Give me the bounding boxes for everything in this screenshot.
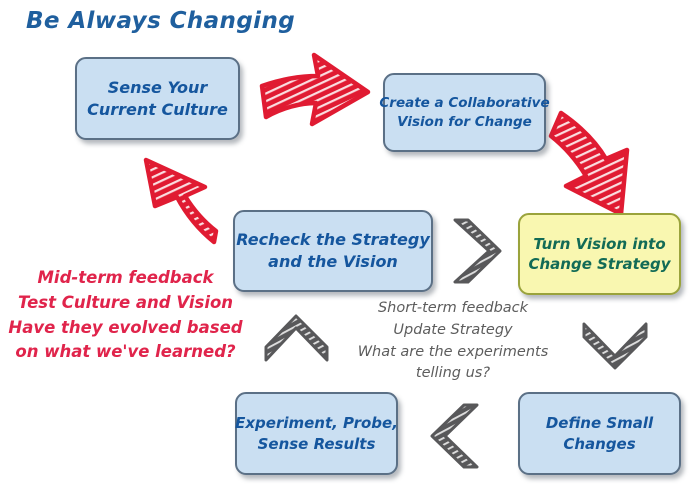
gray-chevron-recheck-to-turn[interactable] [455,220,500,282]
gray-chevron-define-to-experiment[interactable] [432,405,477,467]
node-line: Create a Collaborative [379,94,549,112]
node-line: Define Small [546,413,653,433]
annotation-line: What are the experiments [348,342,558,364]
diagram-canvas: Be Always Changing [0,0,700,500]
annotation-line: Test Culture and Vision [8,291,243,316]
red-arrow-recheck-to-sense[interactable] [146,160,216,242]
annotation-shortterm-feedback: Short-term feedback Update Strategy What… [348,298,558,385]
annotation-line: telling us? [348,363,558,385]
node-line: and the Vision [268,251,398,273]
node-line: Change Strategy [529,254,671,274]
node-turn-vision-into-change-strategy[interactable]: Turn Vision into Change Strategy [518,213,681,295]
node-line: Sense Your [108,77,208,99]
annotation-line: Have they evolved based [8,316,243,341]
node-line: Current Culture [87,99,228,121]
node-experiment-probe-sense-results[interactable]: Experiment, Probe, Sense Results [235,392,398,475]
red-arrow-sense-to-vision[interactable] [262,55,368,124]
node-sense-your-current-culture[interactable]: Sense Your Current Culture [75,57,240,140]
node-create-collaborative-vision[interactable]: Create a Collaborative Vision for Change [383,73,546,152]
annotation-line: Short-term feedback [348,298,558,320]
node-define-small-changes[interactable]: Define Small Changes [518,392,681,475]
annotation-midterm-feedback: Mid-term feedback Test Culture and Visio… [8,266,243,365]
gray-chevron-turn-to-define[interactable] [584,324,646,368]
node-line: Recheck the Strategy [236,229,430,251]
gray-chevron-experiment-to-recheck[interactable] [266,316,327,360]
page-title: Be Always Changing [26,8,295,34]
red-arrow-vision-to-turn[interactable] [551,113,627,214]
node-line: Experiment, Probe, [235,413,398,433]
node-line: Vision for Change [397,113,532,131]
annotation-line: on what we've learned? [8,340,243,365]
node-line: Turn Vision into [533,234,665,254]
node-recheck-the-strategy-and-vision[interactable]: Recheck the Strategy and the Vision [233,210,433,292]
node-line: Sense Results [258,434,376,454]
node-line: Changes [563,434,635,454]
annotation-line: Update Strategy [348,320,558,342]
annotation-line: Mid-term feedback [8,266,243,291]
